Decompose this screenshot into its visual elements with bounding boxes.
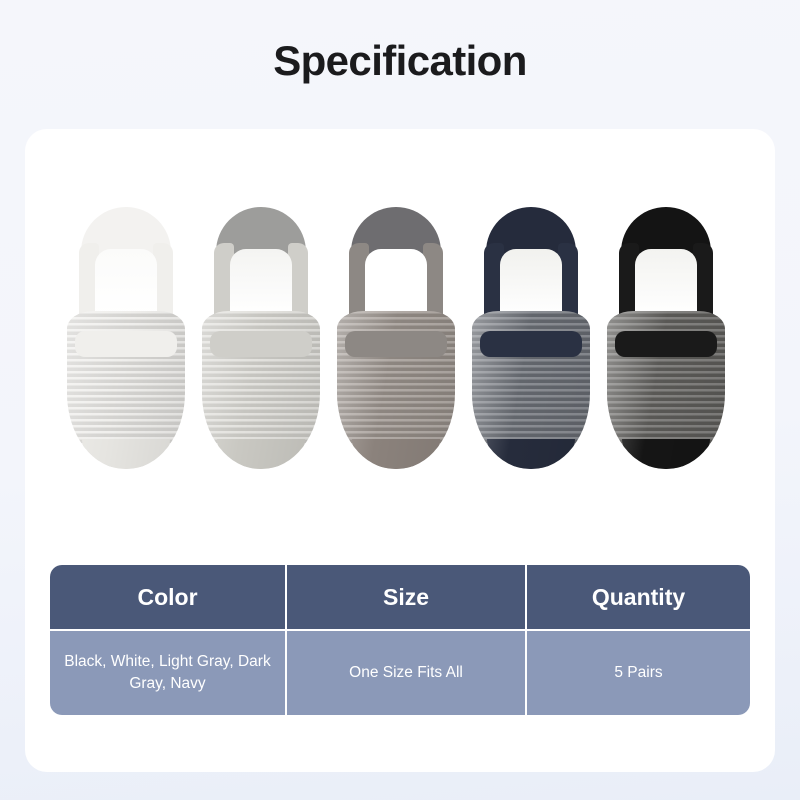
sock-instep-band [345,331,447,357]
specification-table: Color Size Quantity Black, White, Light … [50,565,750,715]
sock-instep-band [75,331,177,357]
product-card: Color Size Quantity Black, White, Light … [25,129,775,772]
cell-size-value: One Size Fits All [287,629,527,715]
sock-instep-band [480,331,582,357]
sock-instep-band [615,331,717,357]
sock-instep-band [210,331,312,357]
cell-color-value: Black, White, Light Gray, Dark Gray, Nav… [50,629,287,715]
sock-swatch-dark-gray [472,207,590,469]
sock-gallery [25,207,775,587]
cell-quantity-value: 5 Pairs [527,629,750,715]
sock-swatch-light-gray [202,207,320,469]
column-header-size: Size [287,565,527,629]
column-header-color: Color [50,565,287,629]
sock-swatch-navy [607,207,725,469]
page-title: Specification [0,37,800,85]
table-row: Black, White, Light Gray, Dark Gray, Nav… [50,629,750,715]
column-header-quantity: Quantity [527,565,750,629]
sock-swatch-white [67,207,185,469]
sock-swatch-gray [337,207,455,469]
table-header-row: Color Size Quantity [50,565,750,629]
